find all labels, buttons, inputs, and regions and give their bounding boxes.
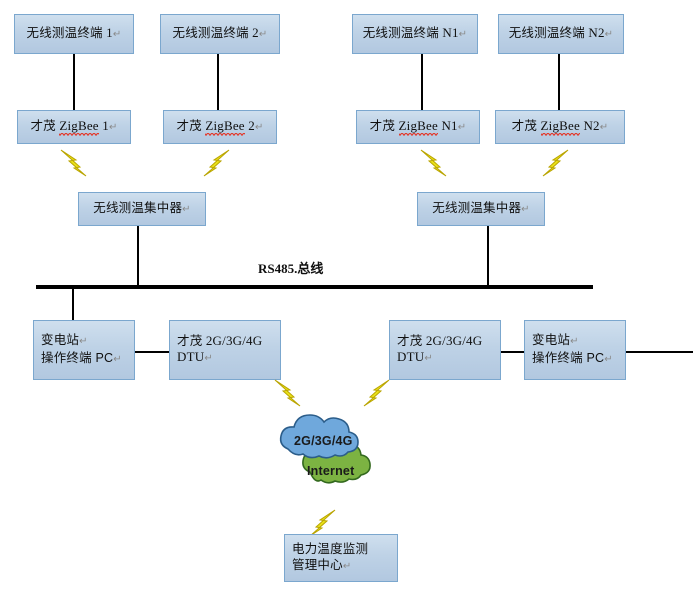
dtu-mark-left: ↵: [204, 353, 213, 364]
lightning-bolt-icon-dtu-right: [358, 378, 392, 408]
connector-bus-substation-left: [72, 289, 74, 320]
dtu-line2-right: DTU: [397, 349, 424, 364]
terminal-mark-2: ↵: [259, 29, 268, 40]
management-center-line2: 管理中心: [292, 558, 343, 572]
concentrator-box-left: 无线测温集中器↵: [78, 192, 206, 226]
dtu-bands-left: 2G/3G/4G: [206, 333, 263, 348]
connector-terminal2-zigbee2: [217, 54, 219, 111]
substation-line1-left: 变电站: [41, 333, 79, 347]
zigbee-module-1: ZigBee: [59, 118, 98, 136]
zigbee-brand-n1: 才茂: [370, 119, 395, 133]
concentrator-box-right: 无线测温集中器↵: [417, 192, 545, 226]
network-cloud-graphic: 2G/3G/4G Internet: [272, 406, 402, 498]
substation-mark1-left: ↵: [79, 336, 88, 347]
substation-pc-box-right: 变电站↵ 操作终端 PC↵: [524, 320, 626, 380]
lightning-bolt-icon-zigbee2: [198, 148, 232, 178]
terminal-index-2: 2: [252, 25, 259, 40]
connector-substation-right-edge: [626, 351, 693, 353]
dtu-box-right: 才茂 2G/3G/4G DTU↵: [389, 320, 501, 380]
zigbee-brand-1: 才茂: [30, 119, 55, 133]
connector-substation-dtu-left: [135, 351, 169, 353]
dtu-line2-left: DTU: [177, 349, 204, 364]
dtu-bands-right: 2G/3G/4G: [426, 333, 483, 348]
zigbee-box-1: 才茂 ZigBee 1↵: [17, 110, 131, 144]
substation-line2-right: 操作终端 PC: [532, 351, 604, 365]
terminal-label-n1: 无线测温终端: [363, 26, 439, 40]
terminal-mark-n2: ↵: [605, 29, 614, 40]
connector-dtu-substation-right: [501, 351, 525, 353]
dtu-brand-left: 才茂: [177, 334, 202, 348]
substation-mark1-right: ↵: [570, 336, 579, 347]
terminal-box-1: 无线测温终端 1↵: [14, 14, 134, 54]
concentrator-label-left: 无线测温集中器: [93, 201, 182, 215]
zigbee-mark-n2: ↵: [600, 122, 609, 133]
substation-mark2-left: ↵: [113, 354, 122, 365]
connector-terminal1-zigbee1: [73, 54, 75, 111]
network-diagram: 无线测温终端 1↵ 无线测温终端 2↵ 无线测温终端 N1↵ 无线测温终端 N2…: [0, 0, 693, 593]
connector-terminaln2-zigbeen2: [558, 54, 560, 111]
substation-line1-right: 变电站: [532, 333, 570, 347]
dtu-mark-right: ↵: [424, 353, 433, 364]
terminal-index-1: 1: [106, 25, 113, 40]
bus-label: RS485.总线: [258, 258, 323, 277]
cloud-label-mobile: 2G/3G/4G: [294, 434, 353, 448]
zigbee-index-n1: N1: [441, 118, 457, 133]
zigbee-brand-2: 才茂: [176, 119, 201, 133]
zigbee-index-1: 1: [102, 118, 109, 133]
substation-pc-box-left: 变电站↵ 操作终端 PC↵: [33, 320, 135, 380]
lightning-bolt-icon-zigbeen2: [537, 148, 571, 178]
zigbee-box-n1: 才茂 ZigBee N1↵: [356, 110, 480, 144]
lightning-bolt-icon-dtu-left: [272, 378, 306, 408]
terminal-label-n2: 无线测温终端: [509, 26, 585, 40]
substation-mark2-right: ↵: [604, 354, 613, 365]
terminal-index-n2: N2: [588, 25, 604, 40]
zigbee-box-n2: 才茂 ZigBee N2↵: [495, 110, 625, 144]
terminal-box-n2: 无线测温终端 N2↵: [498, 14, 624, 54]
zigbee-mark-1: ↵: [109, 122, 118, 133]
terminal-mark-n1: ↵: [459, 29, 468, 40]
concentrator-mark-right: ↵: [521, 204, 530, 215]
zigbee-index-n2: N2: [583, 118, 599, 133]
connector-concentrator-left-bus: [137, 226, 139, 287]
lightning-bolt-icon-zigbeen1: [418, 148, 452, 178]
zigbee-module-n2: ZigBee: [541, 118, 580, 136]
substation-line2-left: 操作终端 PC: [41, 351, 113, 365]
management-center-box: 电力温度监测 管理中心↵: [284, 534, 398, 582]
zigbee-box-2: 才茂 ZigBee 2↵: [163, 110, 277, 144]
management-center-line1: 电力温度监测: [292, 542, 368, 556]
lightning-bolt-icon-zigbee1: [58, 148, 92, 178]
cloud-label-internet: Internet: [307, 464, 354, 478]
terminal-index-n1: N1: [442, 25, 458, 40]
terminal-mark-1: ↵: [113, 29, 122, 40]
zigbee-module-2: ZigBee: [205, 118, 244, 136]
zigbee-brand-n2: 才茂: [512, 119, 537, 133]
zigbee-mark-2: ↵: [255, 122, 264, 133]
zigbee-module-n1: ZigBee: [399, 118, 438, 136]
terminal-box-2: 无线测温终端 2↵: [160, 14, 280, 54]
concentrator-label-right: 无线测温集中器: [432, 201, 521, 215]
dtu-box-left: 才茂 2G/3G/4G DTU↵: [169, 320, 281, 380]
connector-terminaln1-zigbeen1: [421, 54, 423, 111]
terminal-box-n1: 无线测温终端 N1↵: [352, 14, 478, 54]
connector-concentrator-right-bus: [487, 226, 489, 287]
concentrator-mark-left: ↵: [182, 204, 191, 215]
rs485-bus-line: [36, 285, 593, 289]
zigbee-index-2: 2: [248, 118, 255, 133]
dtu-brand-right: 才茂: [397, 334, 422, 348]
management-center-mark: ↵: [343, 561, 352, 572]
zigbee-mark-n1: ↵: [458, 122, 467, 133]
terminal-label-1: 无线测温终端: [27, 26, 103, 40]
terminal-label-2: 无线测温终端: [173, 26, 249, 40]
